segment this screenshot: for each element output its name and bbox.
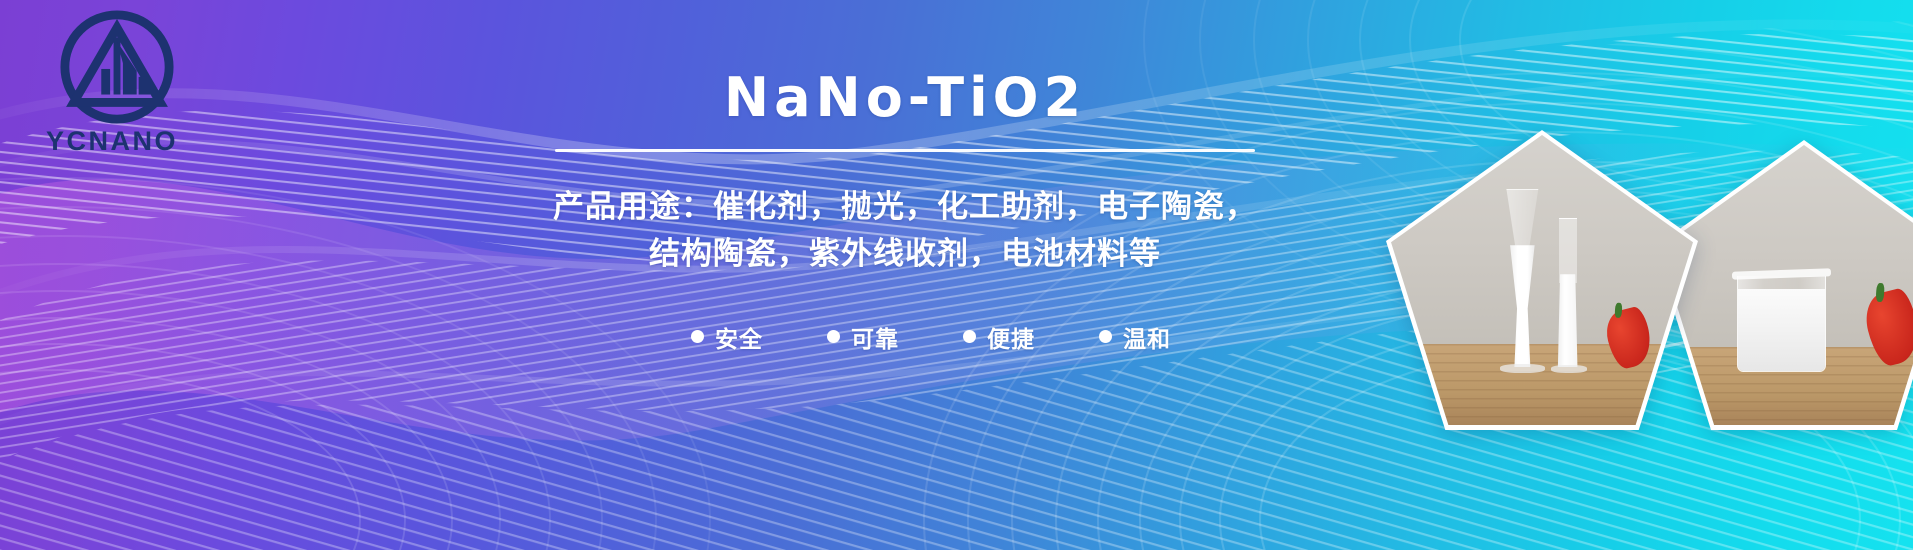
usage-line-2: 结构陶瓷，紫外线收剂，电池材料等 [470,231,1340,278]
feature-label: 温和 [1123,320,1171,354]
bullet-dot-icon [1099,330,1112,343]
ycnano-logo-icon [58,8,176,126]
feature-item-safe: 安全 [691,320,763,354]
photo-backdrop [1391,135,1693,344]
bullet-dot-icon [963,330,976,343]
bullet-dot-icon [827,330,840,343]
bullet-dot-icon [691,330,704,343]
feature-label: 可靠 [851,320,899,354]
photo-table [1391,344,1693,425]
feature-label: 便捷 [987,320,1035,354]
feature-item-reliable: 可靠 [827,320,899,354]
feature-item-mild: 温和 [1099,320,1171,354]
brand-wordmark: YCNANO [44,128,246,155]
product-photo-vases [1386,130,1698,430]
page-title: NaNo-TiO2 [470,60,1340,127]
feature-label: 安全 [715,320,763,354]
product-banner: YCNANO NaNo-TiO2 产品用途：催化剂，抛光，化工助剂，电子陶瓷， … [0,0,1913,550]
title-divider [555,149,1255,152]
product-usage-text: 产品用途：催化剂，抛光，化工助剂，电子陶瓷， 结构陶瓷，紫外线收剂，电池材料等 [470,184,1340,278]
beaker-icon [1737,276,1826,372]
brand-logo: YCNANO [44,8,244,173]
usage-line-1: 产品用途：催化剂，抛光，化工助剂，电子陶瓷， [470,184,1340,231]
banner-copy: NaNo-TiO2 产品用途：催化剂，抛光，化工助剂，电子陶瓷， 结构陶瓷，紫外… [470,60,1340,354]
feature-list: 安全 可靠 便捷 温和 [470,320,1340,354]
feature-item-convenient: 便捷 [963,320,1035,354]
